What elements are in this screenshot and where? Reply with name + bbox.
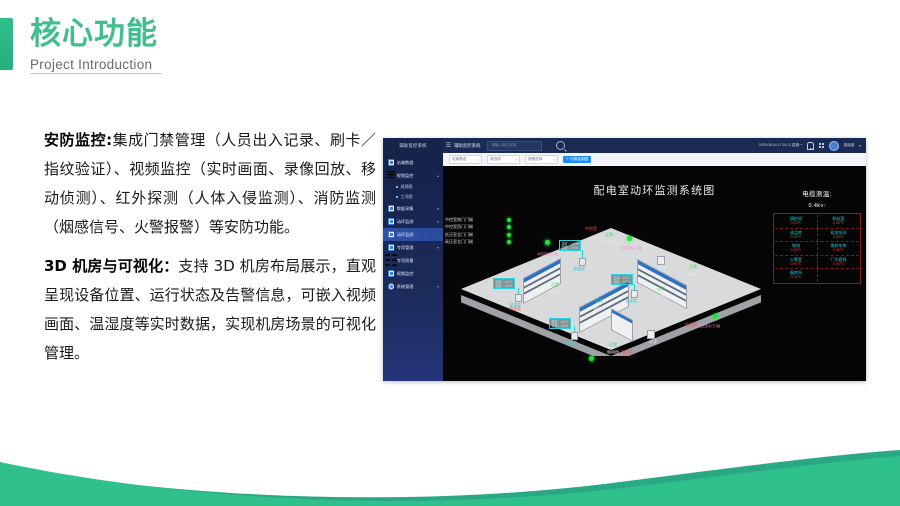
dashboard-icon <box>388 159 394 165</box>
switch-view-button-label: 切换监测图 <box>570 157 588 162</box>
select-choose-value: 请选择 <box>490 157 501 162</box>
table-row: 火警室 0.00℃ 厂内西线 0.00℃ <box>775 256 859 270</box>
isometric-floor-plan[interactable]: 中控室 电池室 低压室 高压室 温度：0.0℃ 湿度：0.0% 温度：0.0℃ … <box>461 228 761 358</box>
cell-value: 0.00℃ <box>775 235 817 240</box>
sensor-temp: 温度：0.0℃ <box>551 320 569 324</box>
sidebar-item-monitor[interactable]: 视频监控 <box>383 267 443 280</box>
env-icon <box>388 231 394 237</box>
sensor-reading-box[interactable]: 温度：0.0℃ 湿度：0.0% <box>549 318 571 329</box>
sidebar-item-video[interactable]: ≡ 视频监控 ▴ <box>383 169 443 182</box>
water-leak-sensor[interactable] <box>647 330 655 339</box>
cell-value: 0.00℃ <box>775 248 817 253</box>
select-station-value: 站端筛选 <box>452 157 466 162</box>
water-leak-sensor[interactable] <box>657 256 665 265</box>
sidebar-item-label: 视频监控 <box>397 173 414 179</box>
sidebar-item-label: 专项管理 <box>397 245 414 251</box>
temp-humidity-sensor[interactable] <box>515 294 522 302</box>
table-cell: 火警室 0.00℃ <box>775 256 817 269</box>
cell-value: 0.00℃ <box>775 221 817 226</box>
sidebar-subitem-label: 工况图 <box>401 194 413 200</box>
settings-icon <box>388 283 394 289</box>
sensor-temp: 温度：0.0℃ <box>613 276 631 280</box>
smoke-label: 烟感报警 <box>687 272 699 277</box>
select-choose[interactable]: 请选择 ▾ <box>487 155 520 164</box>
table-cell: 机加车间 0.00℃ <box>817 229 859 242</box>
sensor-wire <box>634 284 635 290</box>
sidebar-item-env-1[interactable]: 动环监测 ▾ <box>383 215 443 228</box>
bell-icon[interactable] <box>807 142 814 150</box>
smoke-label: 烟感报警 <box>549 290 561 295</box>
sidebar-item-env-active[interactable]: 动环监测 <box>383 228 443 241</box>
smoke-label: 烟感报警 <box>607 350 619 355</box>
sensor-temp: 温度：0.0℃ <box>495 280 513 284</box>
content-toolbar: 站端筛选 ▾ 请选择 ▾ 视图选择 ▾ + 切换监测图 <box>443 153 866 166</box>
topbar-datetime: 2025-08-04 17:24:11 星期一 <box>759 143 803 148</box>
paragraph-3d: 3D 机房与可视化：支持 3D 机房布局展示，直观呈现设备位置、运行状态及告警信… <box>44 252 376 368</box>
paragraph-3d-lead: 3D 机房与可视化： <box>44 257 178 275</box>
sensor-reading-box[interactable]: 温度：0.0℃ 湿度：0.0% <box>611 274 633 285</box>
table-cell: 锅炉间 0.00℃ <box>775 215 817 228</box>
page-title: 核心功能 <box>30 14 350 54</box>
title-accent-bar <box>0 18 13 70</box>
leak-label: 水浸 <box>649 339 657 344</box>
door-marker-led <box>713 314 718 319</box>
table-row: 成品库 0.00℃ 机加车间 0.00℃ <box>775 229 859 243</box>
cell-value: 0.00℃ <box>818 248 859 253</box>
smoke-status: 正常 <box>605 232 613 237</box>
sensor-wire <box>518 288 519 294</box>
chevron-down-icon: ▾ <box>477 158 479 162</box>
cell-value: 0.00℃ <box>775 275 817 280</box>
door-marker-label: 中控室南门门磁 <box>537 252 558 257</box>
temp-humidity-sensor[interactable] <box>579 258 586 266</box>
sensor-wire <box>582 250 583 258</box>
cell-value: 0.00℃ <box>818 262 859 267</box>
smoke-label: 烟感报警 <box>593 306 605 311</box>
sidebar-item-label: 动环监测 <box>397 232 414 238</box>
env-icon <box>388 218 394 224</box>
table-row: 物流 0.00℃ 南综车库 0.00℃ <box>775 242 859 256</box>
room-label-control: 中控室 <box>585 226 597 231</box>
sidebar-subitem-condition[interactable]: 工况图 <box>383 192 443 202</box>
chevron-down-icon: ▾ <box>437 207 439 211</box>
sensor-label: 温湿度 <box>625 298 637 303</box>
door-marker-label: 低压室北门门磁 <box>699 324 720 329</box>
chevron-down-icon: ▾ <box>437 246 439 250</box>
door-marker-led <box>589 356 594 361</box>
topbar-right: 2025-08-04 17:24:11 星期一 超级管 ▾ <box>759 141 866 151</box>
cell-value: 0.00℃ <box>775 262 817 267</box>
app-sidebar: 站端数据 ≡ 视频监控 ▴ 巡视图 工况图 数据采集 <box>383 153 443 381</box>
table-cell <box>817 269 859 282</box>
chevron-down-icon: ▾ <box>515 158 517 162</box>
hamburger-icon[interactable]: ☰ <box>443 142 454 149</box>
smoke-label: 烟感报警 <box>603 240 615 245</box>
smoke-status: 正常 <box>657 286 665 291</box>
plus-icon: + <box>566 157 569 162</box>
select-view[interactable]: 视图选择 ▾ <box>525 155 558 164</box>
sensor-hum: 湿度：0.0% <box>551 324 569 328</box>
chevron-down-icon: ▾ <box>553 158 555 162</box>
topbar-username: 超级管 <box>844 143 855 148</box>
temp-humidity-sensor[interactable] <box>571 332 578 340</box>
table-cell: 南综车库 0.00℃ <box>817 242 859 255</box>
smoke-status: 正常 <box>595 298 603 303</box>
room-label-highvolt: 高压室 <box>621 350 633 355</box>
app-screenshot: 辅助监控系统 ☰ 辅助监控系统 请输入单位名称 2025-08-04 17:24… <box>383 138 866 381</box>
sidebar-item-quality[interactable]: ☷ 专项质量 <box>383 254 443 267</box>
sensor-reading-box[interactable]: 温度：0.0℃ 湿度：0.0% <box>493 278 515 289</box>
slide-header: 核心功能 Project Introduction <box>30 14 350 72</box>
grid-apps-icon[interactable] <box>819 143 823 147</box>
data-icon <box>388 205 394 211</box>
title-underline <box>30 73 162 74</box>
sidebar-item-label: 数据采集 <box>397 206 414 212</box>
sidebar-item-label: 系统管理 <box>397 284 414 290</box>
sensor-reading-box[interactable]: 温度：0.0℃ 湿度：0.0% <box>559 240 581 251</box>
paragraph-security-lead: 安防监控: <box>44 131 112 149</box>
sensor-label: 温湿度 <box>573 266 585 271</box>
paragraph-security: 安防监控:集成门禁管理（人员出入记录、刷卡／指纹验证）、视频监控（实时画面、录像… <box>44 126 376 242</box>
sidebar-item-settings[interactable]: 系统管理 ▾ <box>383 280 443 293</box>
cable-temperature-table: 锅炉间 0.00℃ 制丝室 0.00℃ 成品库 0.00℃ <box>773 213 861 284</box>
smoke-status: 正常 <box>609 342 617 347</box>
sensor-hum: 湿度：0.0% <box>613 280 631 284</box>
smoke-label: 烟感报警 <box>655 294 667 299</box>
table-row: 锅炉间 0.00℃ 制丝室 0.00℃ <box>775 215 859 229</box>
sidebar-item-label: 站端数据 <box>397 160 414 166</box>
table-cell: 烟库所 0.00℃ <box>775 269 817 282</box>
smoke-status: 正常 <box>689 264 697 269</box>
table-cell: 物流 0.00℃ <box>775 242 817 255</box>
cell-value: 0.00℃ <box>818 221 859 226</box>
table-cell: 厂内西线 0.00℃ <box>817 256 859 269</box>
select-view-value: 视图选择 <box>528 157 542 162</box>
temp-humidity-sensor[interactable] <box>631 290 638 298</box>
sensor-hum: 湿度：0.0% <box>561 246 579 250</box>
cable-panel-subtitle: 0.4kv: <box>773 203 861 209</box>
sidebar-item-label: 专项质量 <box>397 258 414 264</box>
smoke-status: 正常 <box>551 282 559 287</box>
search-icon[interactable] <box>556 141 565 150</box>
sensor-temp: 温度：0.0℃ <box>561 242 579 246</box>
select-station[interactable]: 站端筛选 ▾ <box>449 155 482 164</box>
chevron-down-icon: ▾ <box>437 220 439 224</box>
sensor-hum: 湿度：0.0% <box>495 284 513 288</box>
sidebar-nav: 站端数据 ≡ 视频监控 ▴ 巡视图 工况图 数据采集 <box>383 153 443 293</box>
bullet-dot-icon <box>396 196 398 198</box>
door-marker-label: 中控室西门门磁 <box>621 246 642 251</box>
cell-value: 0.00℃ <box>818 235 859 240</box>
room-label-lowvolt: 低压室 <box>685 322 697 327</box>
sensor-label: 温湿度 <box>509 302 521 307</box>
cable-panel-title: 电缆测温: <box>773 188 861 198</box>
table-cell: 成品库 0.00℃ <box>775 229 817 242</box>
chevron-down-icon: ▾ <box>437 285 439 289</box>
sidebar-item-label: 视频监控 <box>397 271 414 277</box>
bullet-dot-icon <box>396 186 398 188</box>
chevron-up-icon: ▴ <box>437 174 439 178</box>
search-input[interactable]: 请输入单位名称 <box>487 141 542 151</box>
app-topbar: 辅助监控系统 ☰ 辅助监控系统 请输入单位名称 2025-08-04 17:24… <box>383 138 866 153</box>
visualization-stage[interactable]: 配电室动环监测系统图 中控室南门门磁 中控室西门门磁 低压室北门门磁 <box>443 166 866 381</box>
app-content: 站端筛选 ▾ 请选择 ▾ 视图选择 ▾ + 切换监测图 配电室动环监测系统图 <box>443 153 866 381</box>
sidebar-subitem-label: 巡视图 <box>401 184 413 190</box>
table-cell: 制丝室 0.00℃ <box>817 215 859 228</box>
sidebar-item-label: 动环监测 <box>397 219 414 225</box>
page-subtitle: Project Introduction <box>30 57 350 72</box>
slide-root: 核心功能 Project Introduction 安防监控:集成门禁管理（人员… <box>0 0 900 506</box>
door-marker-led <box>545 240 550 245</box>
chevron-down-icon[interactable]: ▾ <box>859 144 861 148</box>
sensor-label: 温湿度 <box>565 340 577 345</box>
switch-view-button[interactable]: + 切换监测图 <box>563 156 591 164</box>
door-marker-led <box>627 236 632 241</box>
monitor-icon <box>388 270 394 276</box>
quality-icon: ☷ <box>388 257 394 263</box>
sensor-wire <box>574 326 575 332</box>
leak-label: 水浸 <box>659 265 667 270</box>
door-status-label: 中控室南门门磁 <box>445 217 473 223</box>
app-system-name: 辅助监控系统 <box>454 143 480 149</box>
cable-temperature-panel: 电缆测温: 0.4kv: 锅炉间 0.00℃ 制丝室 0.00℃ <box>773 188 861 284</box>
body-copy: 安防监控:集成门禁管理（人员出入记录、刷卡／指纹验证）、视频监控（实时画面、录像… <box>44 126 376 378</box>
avatar[interactable] <box>829 141 839 151</box>
table-row: 烟库所 0.00℃ <box>775 269 859 282</box>
video-icon: ≡ <box>388 172 394 178</box>
door-status-row: 中控室南门门磁 <box>445 216 511 224</box>
status-led <box>507 218 511 222</box>
sidebar-item-data-collect[interactable]: 数据采集 ▾ <box>383 202 443 215</box>
app-brand: 辅助监控系统 <box>383 138 443 153</box>
